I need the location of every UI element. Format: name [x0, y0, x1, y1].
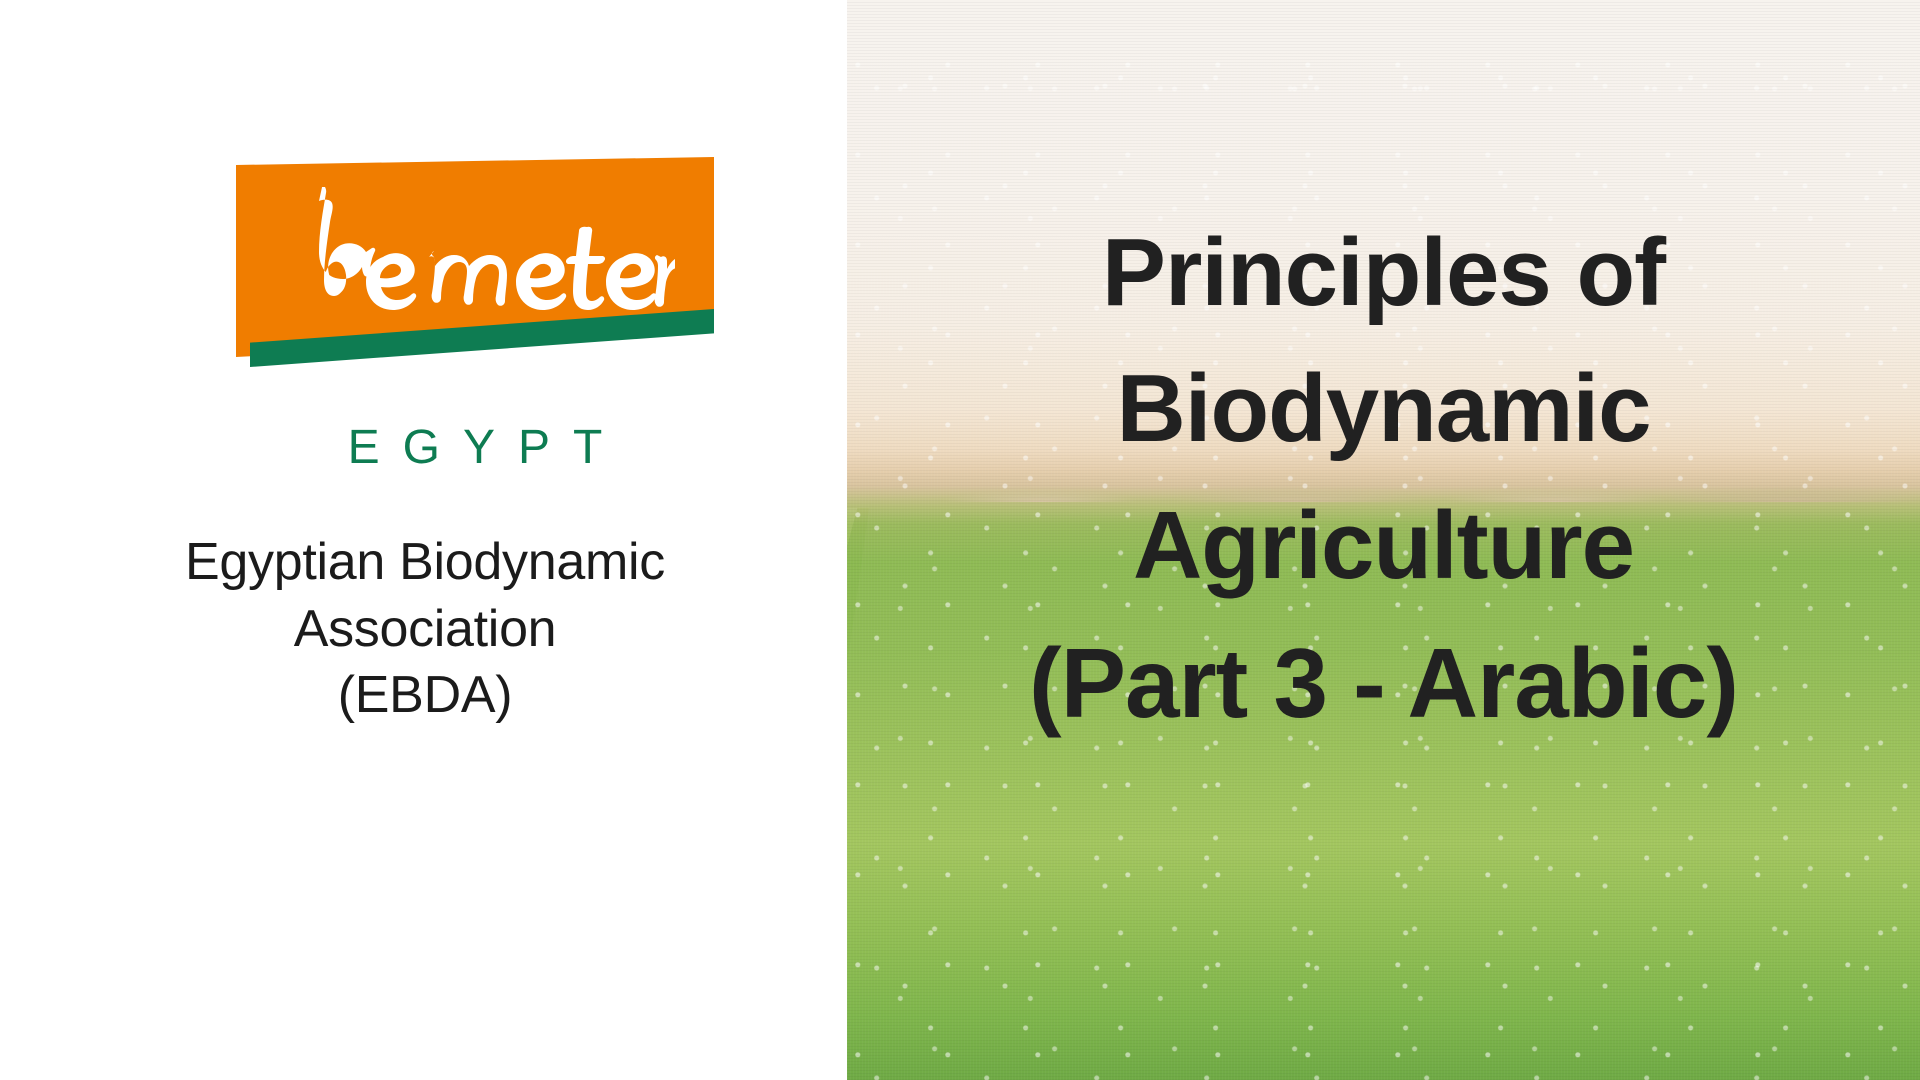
- demeter-logo: [236, 157, 714, 362]
- demeter-logo-mark: [236, 157, 714, 362]
- organization-name-line-2: Association: [70, 596, 780, 663]
- slide-title-line-3: Agriculture: [847, 478, 1920, 614]
- logo-region-label: EGYPT: [236, 424, 714, 472]
- left-branding-panel: EGYPT Egyptian Biodynamic Association (E…: [0, 0, 847, 1080]
- organization-name: Egyptian Biodynamic Association (EBDA): [70, 529, 780, 729]
- slide-title-line-1: Principles of: [847, 205, 1920, 341]
- right-photo-panel: Principles of Biodynamic Agriculture (Pa…: [847, 0, 1920, 1080]
- slide-title-line-4: (Part 3 - Arabic): [847, 614, 1920, 753]
- slide-title: Principles of Biodynamic Agriculture (Pa…: [847, 0, 1920, 1080]
- slide-title-line-2: Biodynamic: [847, 341, 1920, 477]
- organization-name-line-3: (EBDA): [70, 662, 780, 729]
- title-slide: EGYPT Egyptian Biodynamic Association (E…: [0, 0, 1920, 1080]
- organization-name-line-1: Egyptian Biodynamic: [70, 529, 780, 596]
